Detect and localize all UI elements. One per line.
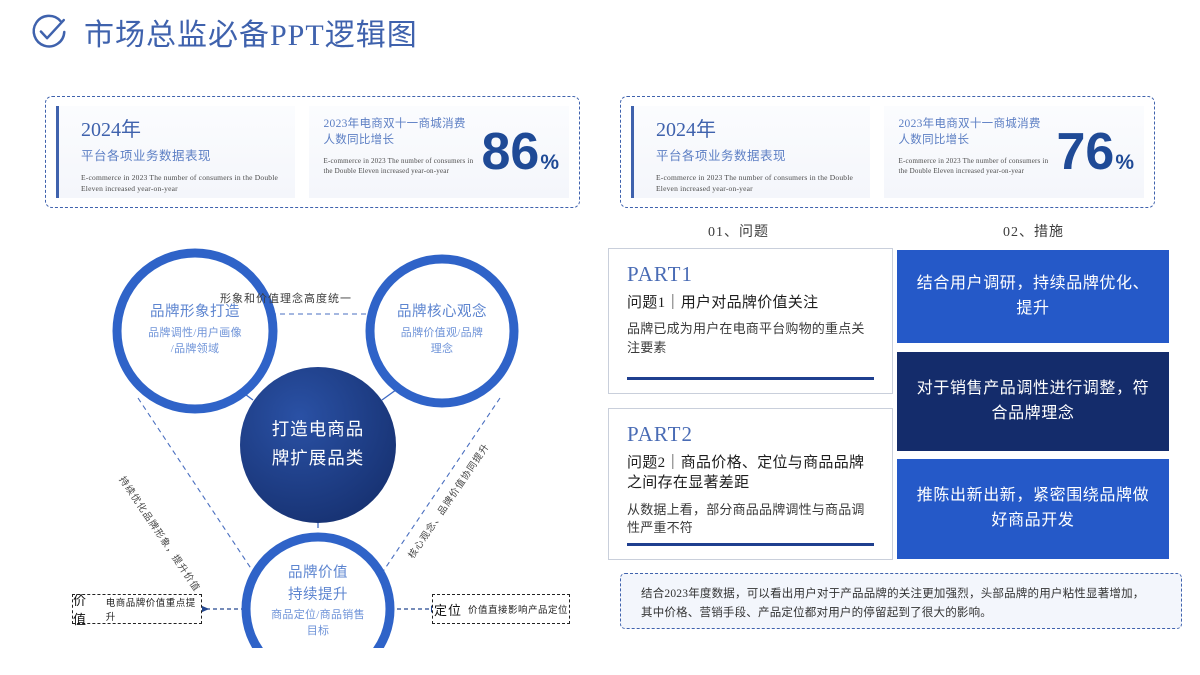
measure-block-3[interactable]: 推陈出新出新，紧密围绕品牌做好商品开发 xyxy=(897,459,1169,559)
stat-panel-right: 2024年 平台各项业务数据表现 E-commerce in 2023 The … xyxy=(620,96,1155,208)
part-underline xyxy=(627,543,874,546)
part-body: 品牌已成为用户在电商平台购物的重点关注要素 xyxy=(627,320,876,357)
part-body: 从数据上看，部分商品品牌调性与商品调性严重不符 xyxy=(627,501,876,538)
section-label-measures: 02、措施 xyxy=(1003,221,1064,241)
slide-canvas: 市场总监必备PPT逻辑图 2024年 平台各项业务数据表现 E-commerce… xyxy=(0,0,1200,675)
stat-english: E-commerce in 2023 The number of consume… xyxy=(656,173,866,195)
stat-english: E-commerce in 2023 The number of consume… xyxy=(81,173,291,195)
edge-label-top: 形象和价值理念高度统一 xyxy=(220,290,352,306)
node-center-label: 打造电商品 牌扩展品类 xyxy=(238,415,398,473)
stat-metric-value: 76 xyxy=(1056,126,1114,178)
stat-card-metric: 2023年电商双十一商城消费人数同比增长 E-commerce in 2023 … xyxy=(309,106,569,198)
stat-subtitle: 平台各项业务数据表现 xyxy=(656,145,870,164)
stat-metric-unit: % xyxy=(540,152,559,173)
stat-card-overview: 2024年 平台各项业务数据表现 E-commerce in 2023 The … xyxy=(56,106,295,198)
node-ring-brand-value xyxy=(246,537,390,648)
tag-position: 定位 价值直接影响产品定位 xyxy=(432,594,570,624)
summary-line-2: 其中价格、营销手段、产品定位都对用户的停留起到了很大的影响。 xyxy=(641,604,1165,623)
section-label-problems: 01、问题 xyxy=(708,221,769,241)
stat-subtitle: 平台各项业务数据表现 xyxy=(81,145,295,164)
measure-text: 对于销售产品调性进行调整，符合品牌理念 xyxy=(915,377,1151,427)
part-card-2[interactable]: PART2 问题2｜商品价格、定位与商品品牌之间存在显著差距 从数据上看，部分商… xyxy=(608,408,893,560)
stat-metric-unit: % xyxy=(1115,152,1134,173)
stat-metric-english: E-commerce in 2023 The number of consume… xyxy=(323,156,473,177)
measure-block-1[interactable]: 结合用户调研，持续品牌优化、提升 xyxy=(897,250,1169,343)
stat-metric-english: E-commerce in 2023 The number of consume… xyxy=(898,156,1048,177)
part-kicker: PART1 xyxy=(627,263,876,286)
tag-strong: 价值 xyxy=(73,590,100,628)
node-ring-brand-core xyxy=(370,259,514,403)
stat-metric-value-group: 86 % xyxy=(481,126,559,178)
stat-panel-left: 2024年 平台各项业务数据表现 E-commerce in 2023 The … xyxy=(45,96,580,208)
slide-header: 市场总监必备PPT逻辑图 xyxy=(28,10,418,54)
page-title: 市场总监必备PPT逻辑图 xyxy=(84,10,418,54)
stat-year: 2024年 xyxy=(656,119,870,141)
part-underline xyxy=(627,377,874,380)
part-heading: 问题1｜用户对品牌价值关注 xyxy=(627,293,876,313)
stat-metric-title: 2023年电商双十一商城消费人数同比增长 xyxy=(323,116,473,149)
check-circle-icon xyxy=(28,11,70,53)
brand-logic-diagram: 品牌形象打造 品牌调性/用户画像 /品牌领域 品牌核心观念 品牌价值观/品牌 理… xyxy=(30,228,605,648)
stat-metric-title: 2023年电商双十一商城消费人数同比增长 xyxy=(898,116,1048,149)
center-line2: 牌扩展品类 xyxy=(238,444,398,473)
part-card-1[interactable]: PART1 问题1｜用户对品牌价值关注 品牌已成为用户在电商平台购物的重点关注要… xyxy=(608,248,893,394)
part-heading: 问题2｜商品价格、定位与商品品牌之间存在显著差距 xyxy=(627,453,876,494)
measure-block-2[interactable]: 对于销售产品调性进行调整，符合品牌理念 xyxy=(897,352,1169,451)
tag-strong: 定位 xyxy=(434,600,462,619)
tag-weak: 电商品牌价值重点提升 xyxy=(106,595,201,623)
stat-metric-value: 86 xyxy=(481,126,539,178)
stat-card-overview: 2024年 平台各项业务数据表现 E-commerce in 2023 The … xyxy=(631,106,870,198)
tag-value: 价值 电商品牌价值重点提升 xyxy=(72,594,202,624)
tag-weak: 价值直接影响产品定位 xyxy=(468,602,568,616)
measure-text: 推陈出新出新，紧密围绕品牌做好商品开发 xyxy=(915,484,1151,534)
stat-year: 2024年 xyxy=(81,119,295,141)
measure-text: 结合用户调研，持续品牌优化、提升 xyxy=(915,272,1151,322)
center-line1: 打造电商品 xyxy=(238,415,398,444)
stat-metric-value-group: 76 % xyxy=(1056,126,1134,178)
part-kicker: PART2 xyxy=(627,423,876,446)
node-ring-brand-image xyxy=(117,253,273,409)
stat-card-metric: 2023年电商双十一商城消费人数同比增长 E-commerce in 2023 … xyxy=(884,106,1144,198)
summary-line-1: 结合2023年度数据，可以看出用户对于产品品牌的关注更加强烈，头部品牌的用户粘性… xyxy=(641,585,1165,604)
summary-box: 结合2023年度数据，可以看出用户对于产品品牌的关注更加强烈，头部品牌的用户粘性… xyxy=(620,573,1182,629)
